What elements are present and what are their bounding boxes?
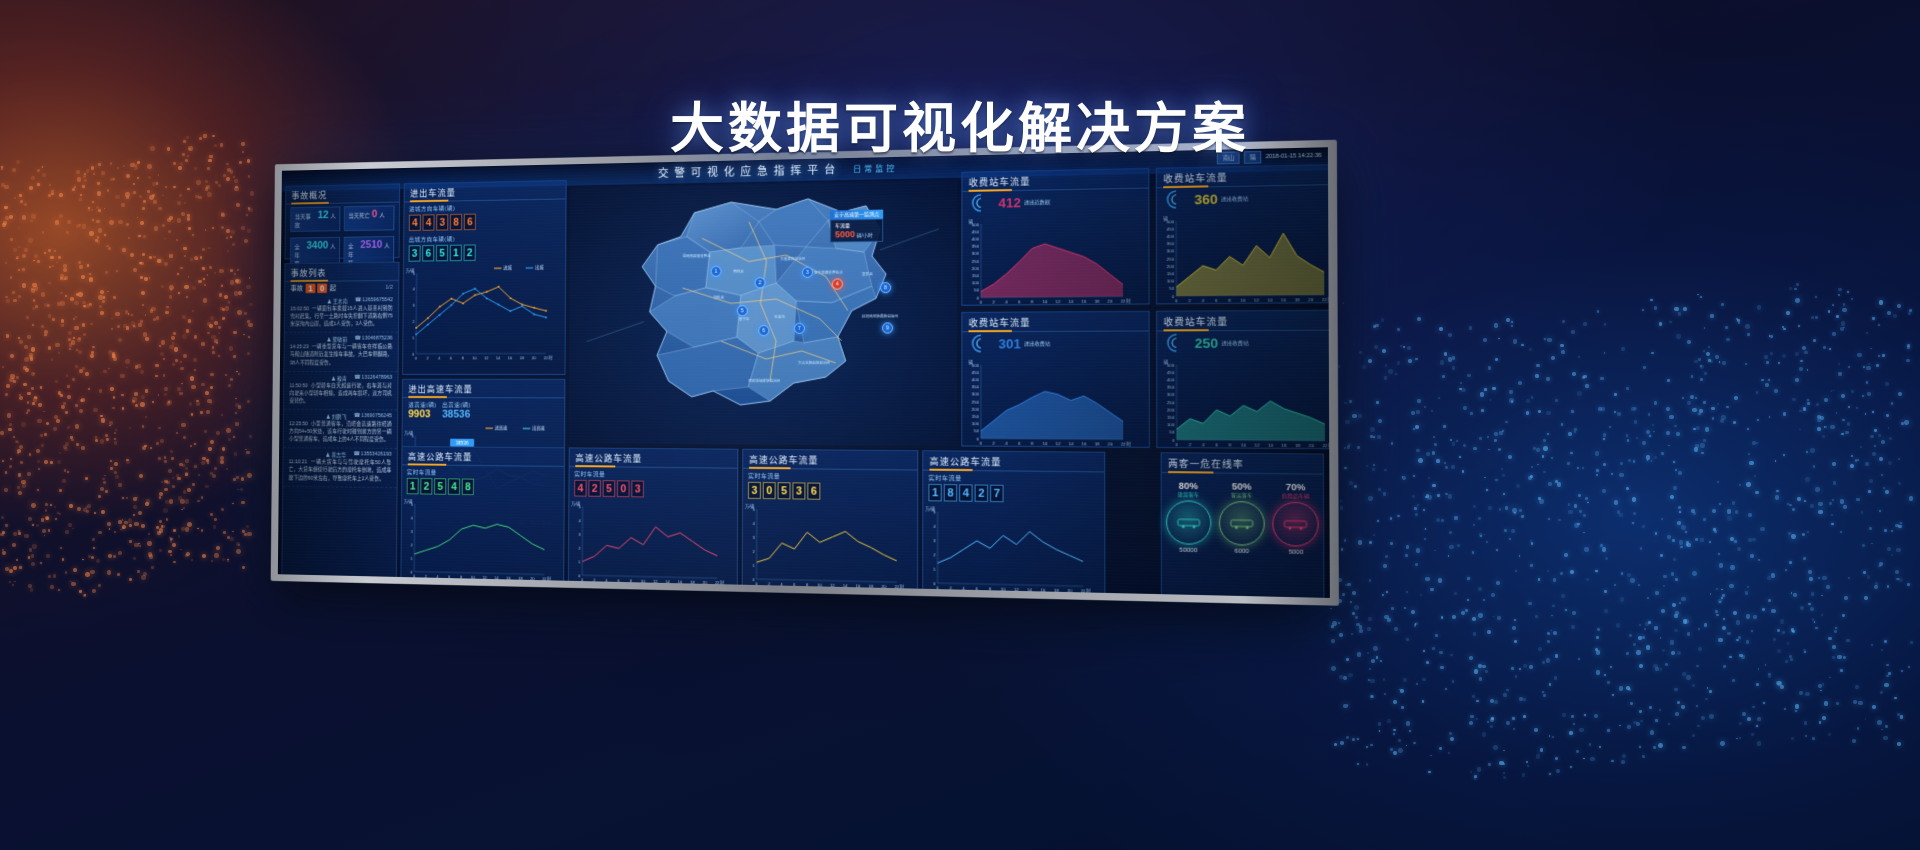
svg-text:16: 16 [856,583,861,588]
stat-box: 当天死亡 0 人 [344,205,395,231]
svg-text:2: 2 [992,299,995,304]
online-rate-value: 50000 [1166,547,1211,554]
list-item[interactable]: ♟ 刘鹏飞 ☎ 13690756245 12:25:50 小型普通客车，沿昭会高… [284,410,398,449]
accident-time: 11:10:21 [289,460,307,466]
svg-text:3: 3 [411,529,414,534]
svg-text:22: 22 [1121,298,1127,303]
svg-text:20: 20 [881,584,886,589]
svg-text:250: 250 [972,258,980,263]
svg-text:8: 8 [460,575,463,580]
online-rate-pct: 50% [1219,481,1265,492]
highway-card: 高速公路车流量 实时车流量 42503 01234502468101214161… [568,447,738,590]
digit-cell: 3 [436,214,448,231]
svg-text:14: 14 [1027,587,1033,592]
online-rate-ring [1273,502,1319,547]
digit-cell: 4 [574,480,586,497]
highway-title: 高速公路车流量 [402,447,564,467]
list-item-meta: ♟ 穆青 ☎ 13126478963 [290,375,393,383]
digit-cell: 0 [617,480,630,497]
svg-text:20: 20 [1067,588,1073,593]
svg-text:4: 4 [1202,298,1205,303]
in-out-flow-chart: 0123450246810121416182022时万/辆 进城 出城 [403,262,565,364]
accident-time: 12:25:50 [289,421,308,427]
svg-text:12: 12 [1254,297,1260,302]
line-chart: 0123450246810121416182022时万/辆 [743,501,911,591]
reporter-name: ♟ 穆青 [331,375,347,383]
area-chart: 0501001502002503003504004505000246810121… [962,354,1142,450]
digit-cell: 4 [422,214,434,230]
digit-cell: 8 [450,214,462,231]
svg-text:12: 12 [1056,441,1062,446]
svg-text:辆: 辆 [1164,358,1169,364]
svg-text:2: 2 [427,356,430,361]
online-rate-value: 6000 [1219,548,1265,555]
line-chart: 0123450246810121416182022时万/辆 [569,498,731,586]
toll-gauge: 360 进出收费站 [1157,185,1330,211]
svg-text:150: 150 [972,273,980,278]
accident-list-pager[interactable]: 1/2 [385,285,393,291]
svg-text:16: 16 [1281,297,1287,302]
svg-text:14: 14 [1069,441,1075,446]
map-label: 安宁高速收费站点 [814,270,843,275]
accident-list-card: 事故列表 事故 10 起 1/2 ♟ 王木南 ☎ 12659675542 15:… [281,262,399,583]
svg-text:1: 1 [578,559,581,564]
accident-items: ♟ 王木南 ☎ 12659675542 15:02:50 一辆面包车乘载15人进… [283,294,398,488]
map-tooltip: 安宁高速第一监测点 车流量 5000 辆/小时 [830,210,883,243]
list-item-body: 11:10:21 一辆大货车与与驾驶摩托车50人坠亡，大货车继续行驶后方的摩托车… [289,459,392,483]
svg-text:250: 250 [1167,400,1175,405]
counter-value: 38536 [442,409,471,421]
accident-count-label: 事故 [290,284,303,294]
highway-digits: 30536 [743,480,917,503]
counter-block: 进高速(辆) 9903 [408,400,437,420]
svg-text:0: 0 [976,436,979,441]
highway-title: 高速公路车流量 [570,448,738,468]
toll-station-title: 收费站车流量 [962,169,1148,192]
svg-text:18: 18 [1054,588,1060,593]
vehicle-icon [1176,516,1200,529]
online-rate-item: 50% 客运客车 6000 [1219,481,1265,555]
toll-value: 360 [1194,191,1217,207]
svg-text:8: 8 [806,582,809,587]
svg-text:1: 1 [412,335,415,340]
dashboard-screen: 交警可视化应急指挥平台 日常监控 南山 晴 2018-01-15 14:22:3… [238,152,1313,592]
svg-text:万/辆: 万/辆 [925,505,935,511]
svg-text:200: 200 [972,266,980,271]
svg-text:10: 10 [472,356,477,361]
svg-text:50: 50 [1169,286,1175,291]
svg-text:0: 0 [980,440,983,445]
svg-text:时: 时 [1328,442,1330,448]
online-rate-item: 80% 旅游客车 50000 [1166,480,1211,554]
toll-value-label: 进出收费站 [1221,339,1248,346]
svg-text:300: 300 [972,392,980,397]
svg-text:250: 250 [972,399,980,404]
online-rate-item: 70% 危险品车辆 5000 [1273,482,1320,557]
svg-text:2: 2 [1188,298,1191,303]
svg-text:20: 20 [532,355,537,360]
svg-text:14: 14 [843,583,848,588]
svg-text:300: 300 [1167,249,1175,254]
svg-text:500: 500 [1167,362,1175,367]
digit-cell: 5 [434,478,446,495]
stat-value: 0 [372,209,378,221]
svg-text:4: 4 [411,515,414,520]
toll-value: 412 [998,194,1020,210]
online-rate-pct: 70% [1273,482,1319,493]
svg-text:14: 14 [494,575,499,580]
digit-cell: 6 [422,245,434,261]
online-rate-value: 5000 [1273,549,1319,556]
signal-icon [1163,190,1191,209]
svg-text:20: 20 [1309,443,1315,448]
list-item-body: 11:50:50 小型轿车白天超速行驶，右车道与对向驶来小型轿车相撞，造成两车损… [289,382,392,405]
in-out-counters: 进城方向车辆(辆) 44386 出城方向车辆(辆) 36512 [404,199,566,263]
svg-text:200: 200 [1167,264,1175,269]
screen-bezel: 交警可视化应急指挥平台 日常监控 南山 晴 2018-01-15 14:22:3… [271,140,1339,606]
svg-text:4: 4 [436,574,439,579]
digit-cell: 0 [763,482,776,499]
highway-card: 高速公路车流量 实时车流量 12548 01234502468101214161… [400,446,565,587]
svg-text:12: 12 [1014,587,1020,592]
counter-value: 9903 [408,409,436,421]
highway-in-out-title: 进出高速车流量 [403,380,565,399]
svg-text:22: 22 [1121,441,1127,446]
map-marker-4[interactable]: 4 [832,278,843,289]
digit-cell: 6 [807,483,820,500]
toll-station-card: 收费站车流量 412 进出近数据 05010015020025030035040… [961,168,1149,306]
highway-digits: 42503 [569,478,737,501]
svg-text:8: 8 [630,578,633,583]
list-item[interactable]: ♟ 梁敏丽 ☎ 13046875236 14:25:23 一辆重型货车与一辆客车… [284,333,398,372]
toll-station-title: 收费站车流量 [1157,311,1330,332]
svg-text:350: 350 [1167,385,1175,390]
svg-text:2: 2 [425,574,428,579]
list-item[interactable]: ♟ 王木南 ☎ 12659675542 15:02:50 一辆面包车乘载15人进… [285,294,399,333]
svg-text:100: 100 [1167,422,1175,427]
toll-station-card: 收费站车流量 360 进出收费站 05010015020025030035040… [1156,164,1330,305]
svg-text:6: 6 [1215,442,1218,447]
line-chart: 0123450246810121416182022时万/辆 进城 出城 [403,262,559,364]
vehicle-icon [1284,518,1308,531]
area-chart: 0501001502002503003504004505000246810121… [962,211,1142,307]
svg-text:0: 0 [980,300,983,305]
stat-unit: 人 [330,242,335,251]
toll-station-title: 收费站车流量 [962,312,1148,332]
map-panel[interactable]: 1 2 3 4 5 6 7 8 9 昆明南高速收费站嵩明县大理彝族自治州安宁高速… [569,180,958,447]
svg-text:时: 时 [720,579,724,585]
svg-text:万/辆: 万/辆 [406,267,415,273]
svg-text:6: 6 [1215,298,1218,303]
counter-block: 进城方向车辆(辆) 44386 [404,199,565,233]
svg-text:2: 2 [412,319,415,324]
map-marker-3[interactable]: 3 [802,267,813,278]
svg-text:22: 22 [1081,588,1087,593]
svg-text:万/辆: 万/辆 [404,498,413,504]
highway-title: 高速公路车流量 [923,451,1104,472]
svg-text:150: 150 [972,414,980,419]
slide-stage: 大数据可视化解决方案 交警可视化应急指挥平台 日常监控 南山 晴 2018-01… [0,0,1920,850]
svg-text:20: 20 [1308,297,1314,302]
svg-text:10: 10 [817,582,822,587]
svg-text:0: 0 [581,577,584,582]
map-label: 文山壮族苗族自治州 [798,361,830,366]
svg-text:4: 4 [752,520,755,525]
svg-text:0: 0 [1172,293,1175,298]
svg-text:0: 0 [752,577,755,582]
svg-text:100: 100 [972,421,980,426]
highway-sub: 实时车流量 [743,469,917,482]
stat-value: 12 [318,209,329,221]
svg-text:万/辆: 万/辆 [745,503,754,509]
svg-text:100: 100 [1167,279,1175,284]
svg-text:2: 2 [768,581,771,586]
svg-text:20: 20 [702,580,707,585]
highway-digits: 12548 [402,476,564,498]
online-rate-name: 旅游客车 [1166,491,1211,499]
svg-text:300: 300 [1167,392,1175,397]
svg-text:200: 200 [972,406,980,411]
map-marker-5[interactable]: 5 [737,305,748,316]
svg-text:8: 8 [989,586,992,591]
map-marker-2[interactable]: 2 [755,277,766,288]
online-rate-name: 客运客车 [1219,492,1265,500]
toll-gauge: 412 进出近数据 [962,189,1148,215]
svg-text:14: 14 [1068,299,1074,304]
svg-text:4: 4 [962,586,965,591]
svg-text:18: 18 [518,576,523,581]
svg-text:4: 4 [1005,299,1008,304]
toll-value-label: 进出收费站 [1024,340,1050,347]
online-rate-items: 80% 旅游客车 50000 50% 客运客车 6000 70% [1162,473,1324,560]
dashboard-title: 交警可视化应急指挥平台 [658,161,841,181]
accident-count-unit: 起 [330,283,336,293]
svg-text:8: 8 [1229,442,1232,447]
svg-text:时: 时 [900,583,904,589]
svg-text:2: 2 [1189,442,1192,447]
map-tooltip-body: 车流量 5000 辆/小时 [830,219,883,243]
svg-text:20: 20 [530,576,535,581]
svg-text:6: 6 [448,574,451,579]
svg-text:时: 时 [1126,297,1130,303]
svg-text:350: 350 [972,244,980,249]
svg-text:12: 12 [483,575,488,580]
stat-unit: 人 [379,210,385,219]
svg-text:50: 50 [974,288,980,293]
counter-digits: 44386 [404,210,565,233]
svg-text:3: 3 [933,538,936,543]
svg-text:14: 14 [496,355,501,360]
dashboard-mode[interactable]: 日常监控 [853,162,897,174]
svg-text:0: 0 [413,574,416,579]
svg-text:12: 12 [484,355,489,360]
svg-text:1: 1 [752,563,755,568]
signal-icon [969,193,996,212]
svg-text:10: 10 [1043,299,1049,304]
map-label: 大理彝族自治州 [780,257,805,262]
digit-cell: 8 [462,478,474,495]
reporter-name: ♟ 梁敏丽 [327,336,348,344]
counter-block: 出城方向车辆(辆) 36512 [404,231,565,264]
list-item-body: 12:25:50 小型普通客车，沿昭会高速路往昭通方向54+50米处，该车行驶时… [289,420,392,444]
digit-cell: 3 [409,245,421,261]
reporter-name: ♟ 刘鹏飞 [326,413,347,421]
counter-label: 出高速(辆) [442,400,471,409]
svg-text:150: 150 [1167,271,1175,276]
map-marker-7[interactable]: 7 [794,323,805,334]
digit-cell: 7 [990,485,1003,503]
svg-text:16: 16 [1082,441,1088,446]
svg-text:16: 16 [678,579,683,584]
svg-text:12: 12 [1254,442,1260,447]
svg-text:万/辆: 万/辆 [571,500,580,506]
svg-text:12: 12 [830,583,835,588]
digit-cell: 3 [631,480,644,497]
svg-text:18: 18 [1295,297,1301,302]
svg-text:8: 8 [1228,298,1231,303]
digit-cell: 3 [792,482,805,499]
svg-text:1: 1 [410,556,413,561]
list-item-body: 15:02:50 一辆面包车乘载15人进入基善村别防雪村赶集，行至一土路时车失控… [290,305,393,329]
toll-value-label: 进出近数据 [1024,198,1050,206]
svg-text:8: 8 [462,356,465,361]
map-label: 嵩明县 [733,270,744,275]
svg-text:万/辆: 万/辆 [404,430,413,436]
svg-text:400: 400 [972,236,980,241]
digit-cell: 1 [407,478,419,495]
reporter-phone: ☎ 13690756245 [354,413,392,421]
svg-text:10: 10 [1001,587,1007,592]
svg-text:16: 16 [1041,587,1047,592]
svg-text:450: 450 [972,229,980,234]
digit-cell: 2 [464,244,476,261]
accident-count-row: 事故 10 起 1/2 [285,281,398,295]
page-title: 大数据可视化解决方案 [0,84,1920,163]
svg-text:500: 500 [972,222,980,227]
highway-sub: 实时车流量 [923,471,1104,484]
svg-text:5: 5 [933,509,936,514]
toll-value-label: 进出收费站 [1221,195,1248,203]
svg-text:2: 2 [933,552,936,557]
map-label: 宜良县 [862,272,873,277]
svg-text:时: 时 [1086,587,1090,593]
stat-value: 2510 [360,239,382,251]
svg-text:0: 0 [1172,437,1175,442]
svg-text:16: 16 [1281,443,1287,448]
svg-text:4: 4 [605,578,608,583]
svg-text:6: 6 [793,582,796,587]
svg-text:4: 4 [781,582,784,587]
reporter-phone: ☎ 13046875236 [354,336,392,344]
map-marker-9[interactable]: 9 [882,322,893,333]
map-label: 红河哈尼族彝族自治州 [862,314,898,319]
svg-text:20: 20 [1108,441,1114,446]
svg-text:6: 6 [450,356,453,361]
svg-text:400: 400 [1167,377,1175,382]
svg-text:时: 时 [1328,296,1330,302]
svg-text:18: 18 [1295,443,1301,448]
svg-text:进高速: 进高速 [495,425,508,432]
toll-gauge: 250 进出收费站 [1157,331,1330,355]
online-rate-card: 两客一危在线率 80% 旅游客车 50000 50% 客运客车 [1161,452,1325,598]
svg-text:0: 0 [936,585,939,590]
svg-text:14: 14 [1268,443,1274,448]
online-rate-pct: 80% [1166,480,1211,491]
digit-cell: 2 [588,480,600,497]
svg-text:16: 16 [508,355,513,360]
map-tooltip-unit: 辆/小时 [856,233,872,239]
counter-block: 出高速(辆) 38536 [442,400,471,420]
svg-text:18: 18 [1095,441,1101,446]
list-item[interactable]: ♟ 穆青 ☎ 13126478963 11:50:50 小型轿车白天超速行驶，右… [284,372,398,411]
list-item-body: 14:25:23 一辆重型货车与一辆客车在祥临公路马鞍山隧道附近发生撞车事故，大… [290,344,393,367]
stat-label: 当天死亡 [348,211,370,220]
counter-digits: 36512 [404,241,565,263]
svg-text:8: 8 [1031,299,1034,304]
svg-text:辆: 辆 [1163,215,1167,221]
list-item[interactable]: ♟ 黄志华 ☎ 13553426193 11:10:21 一辆大货车与与驾驶摩托… [283,448,397,488]
digit-cell: 4 [448,478,460,495]
svg-text:18: 18 [520,355,525,360]
line-chart: 0123450246810121416182022时万/辆 [923,503,1098,595]
svg-text:400: 400 [1167,234,1175,239]
svg-text:500: 500 [972,362,980,367]
accident-list-title: 事故列表 [285,263,398,282]
in-out-flow-card: 进出车流量 进城方向车辆(辆) 44386 出城方向车辆(辆) 36512 01… [402,180,566,375]
svg-text:450: 450 [1167,370,1175,375]
svg-text:4: 4 [933,523,936,528]
svg-text:6: 6 [1018,441,1021,446]
svg-text:50: 50 [974,429,980,434]
digit-cell: 3 [748,482,761,499]
svg-text:6: 6 [976,586,979,591]
svg-text:150: 150 [1167,415,1175,420]
svg-text:出高速: 出高速 [532,425,545,432]
accident-time: 11:50:50 [289,383,307,389]
svg-text:350: 350 [1167,241,1175,246]
accident-overview-card: 事故概况 当天事故 12 人 当天死亡 0 人 全年事故 3400 人 全年死亡… [285,183,401,259]
svg-text:2: 2 [593,578,596,583]
map-marker-6[interactable]: 6 [758,325,769,336]
svg-text:250: 250 [1167,256,1175,261]
svg-text:12: 12 [653,579,658,584]
reporter-name: ♟ 王木南 [327,298,348,306]
toll-station-title: 收费站车流量 [1157,165,1330,189]
svg-text:2: 2 [578,545,581,550]
reporter-name: ♟ 黄志华 [325,451,346,459]
map-label: 昆明南高速收费站 [683,254,711,259]
map-marker-8[interactable]: 8 [880,282,891,293]
map-label: 玉溪市 [774,315,785,320]
page-title-text: 大数据可视化解决方案 [670,99,1250,159]
stat-row: 当天事故 12 人 当天死亡 0 人 [286,202,399,234]
svg-text:18: 18 [690,580,695,585]
svg-text:0: 0 [976,295,979,300]
svg-text:0: 0 [415,356,418,361]
svg-text:450: 450 [1167,226,1175,231]
digit-cell: 4 [409,215,421,231]
svg-text:22: 22 [1322,443,1328,448]
svg-text:500: 500 [1167,219,1175,224]
svg-text:400: 400 [972,377,980,382]
digit-cell: 8 [944,484,957,502]
reporter-phone: ☎ 13126478963 [354,375,392,383]
stat-unit: 人 [384,241,390,250]
svg-text:4: 4 [1005,441,1008,446]
svg-text:出城: 出城 [535,264,544,271]
svg-text:2: 2 [949,585,952,590]
svg-text:4: 4 [438,356,441,361]
